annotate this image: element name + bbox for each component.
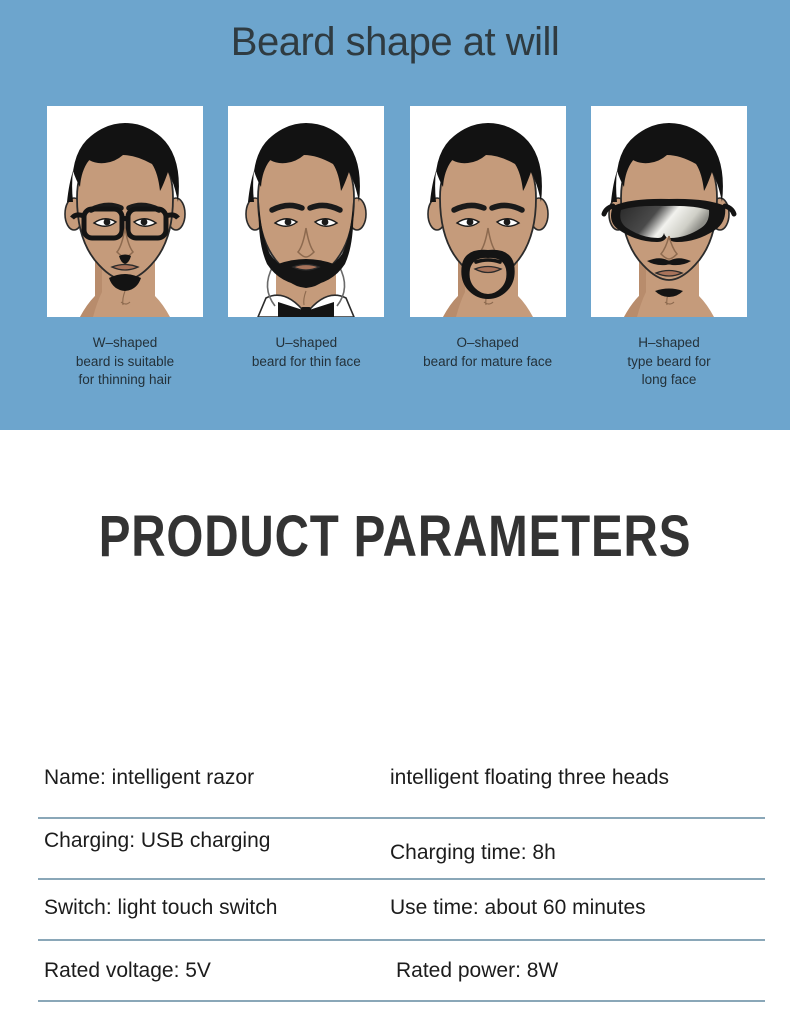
product-parameters-heading: PRODUCT PARAMETERS: [71, 508, 719, 566]
param-cell-rated-power: Rated power: 8W: [396, 959, 558, 983]
param-cell-charging-time: Charging time: 8h: [390, 841, 556, 865]
param-cell-use-time: Use time: about 60 minutes: [390, 896, 646, 920]
param-cell-charging: Charging: USB charging: [44, 829, 270, 853]
beard-card-caption: U–shaped beard for thin face: [228, 334, 384, 371]
beard-card-caption: O–shaped beard for mature face: [410, 334, 566, 371]
face-illustration-w-shaped: [47, 106, 203, 317]
param-cell-switch: Switch: light touch switch: [44, 896, 277, 920]
table-row: Name: intelligent razor intelligent floa…: [38, 758, 765, 819]
beard-shape-panel: Beard shape at will: [0, 0, 790, 430]
beard-panel-title: Beard shape at will: [0, 0, 790, 62]
face-illustration-u-shaped: [228, 106, 384, 317]
param-cell-name: Name: intelligent razor: [44, 766, 254, 790]
product-parameters-section: PRODUCT PARAMETERS Name: intelligent raz…: [0, 508, 790, 1024]
beard-style-card-h-shaped[interactable]: H–shaped type beard for long face: [591, 106, 747, 390]
param-cell-rated-voltage: Rated voltage: 5V: [44, 959, 211, 983]
beard-style-card-w-shaped[interactable]: W–shaped beard is suitable for thinning …: [47, 106, 203, 390]
face-illustration-h-shaped: [591, 106, 747, 317]
beard-style-card-u-shaped[interactable]: U–shaped beard for thin face: [228, 106, 384, 390]
beard-style-card-o-shaped[interactable]: O–shaped beard for mature face: [410, 106, 566, 390]
table-row: Switch: light touch switch Use time: abo…: [38, 880, 765, 941]
table-row: Rated voltage: 5V Rated power: 8W: [38, 941, 765, 1002]
face-illustration-o-shaped: [410, 106, 566, 317]
beard-card-caption: W–shaped beard is suitable for thinning …: [47, 334, 203, 390]
beard-style-card-list: W–shaped beard is suitable for thinning …: [47, 106, 747, 390]
table-row: Charging: USB charging Charging time: 8h: [38, 819, 765, 880]
beard-card-caption: H–shaped type beard for long face: [591, 334, 747, 390]
product-parameters-table: Name: intelligent razor intelligent floa…: [38, 758, 765, 1002]
param-cell-head-type: intelligent floating three heads: [390, 766, 669, 790]
